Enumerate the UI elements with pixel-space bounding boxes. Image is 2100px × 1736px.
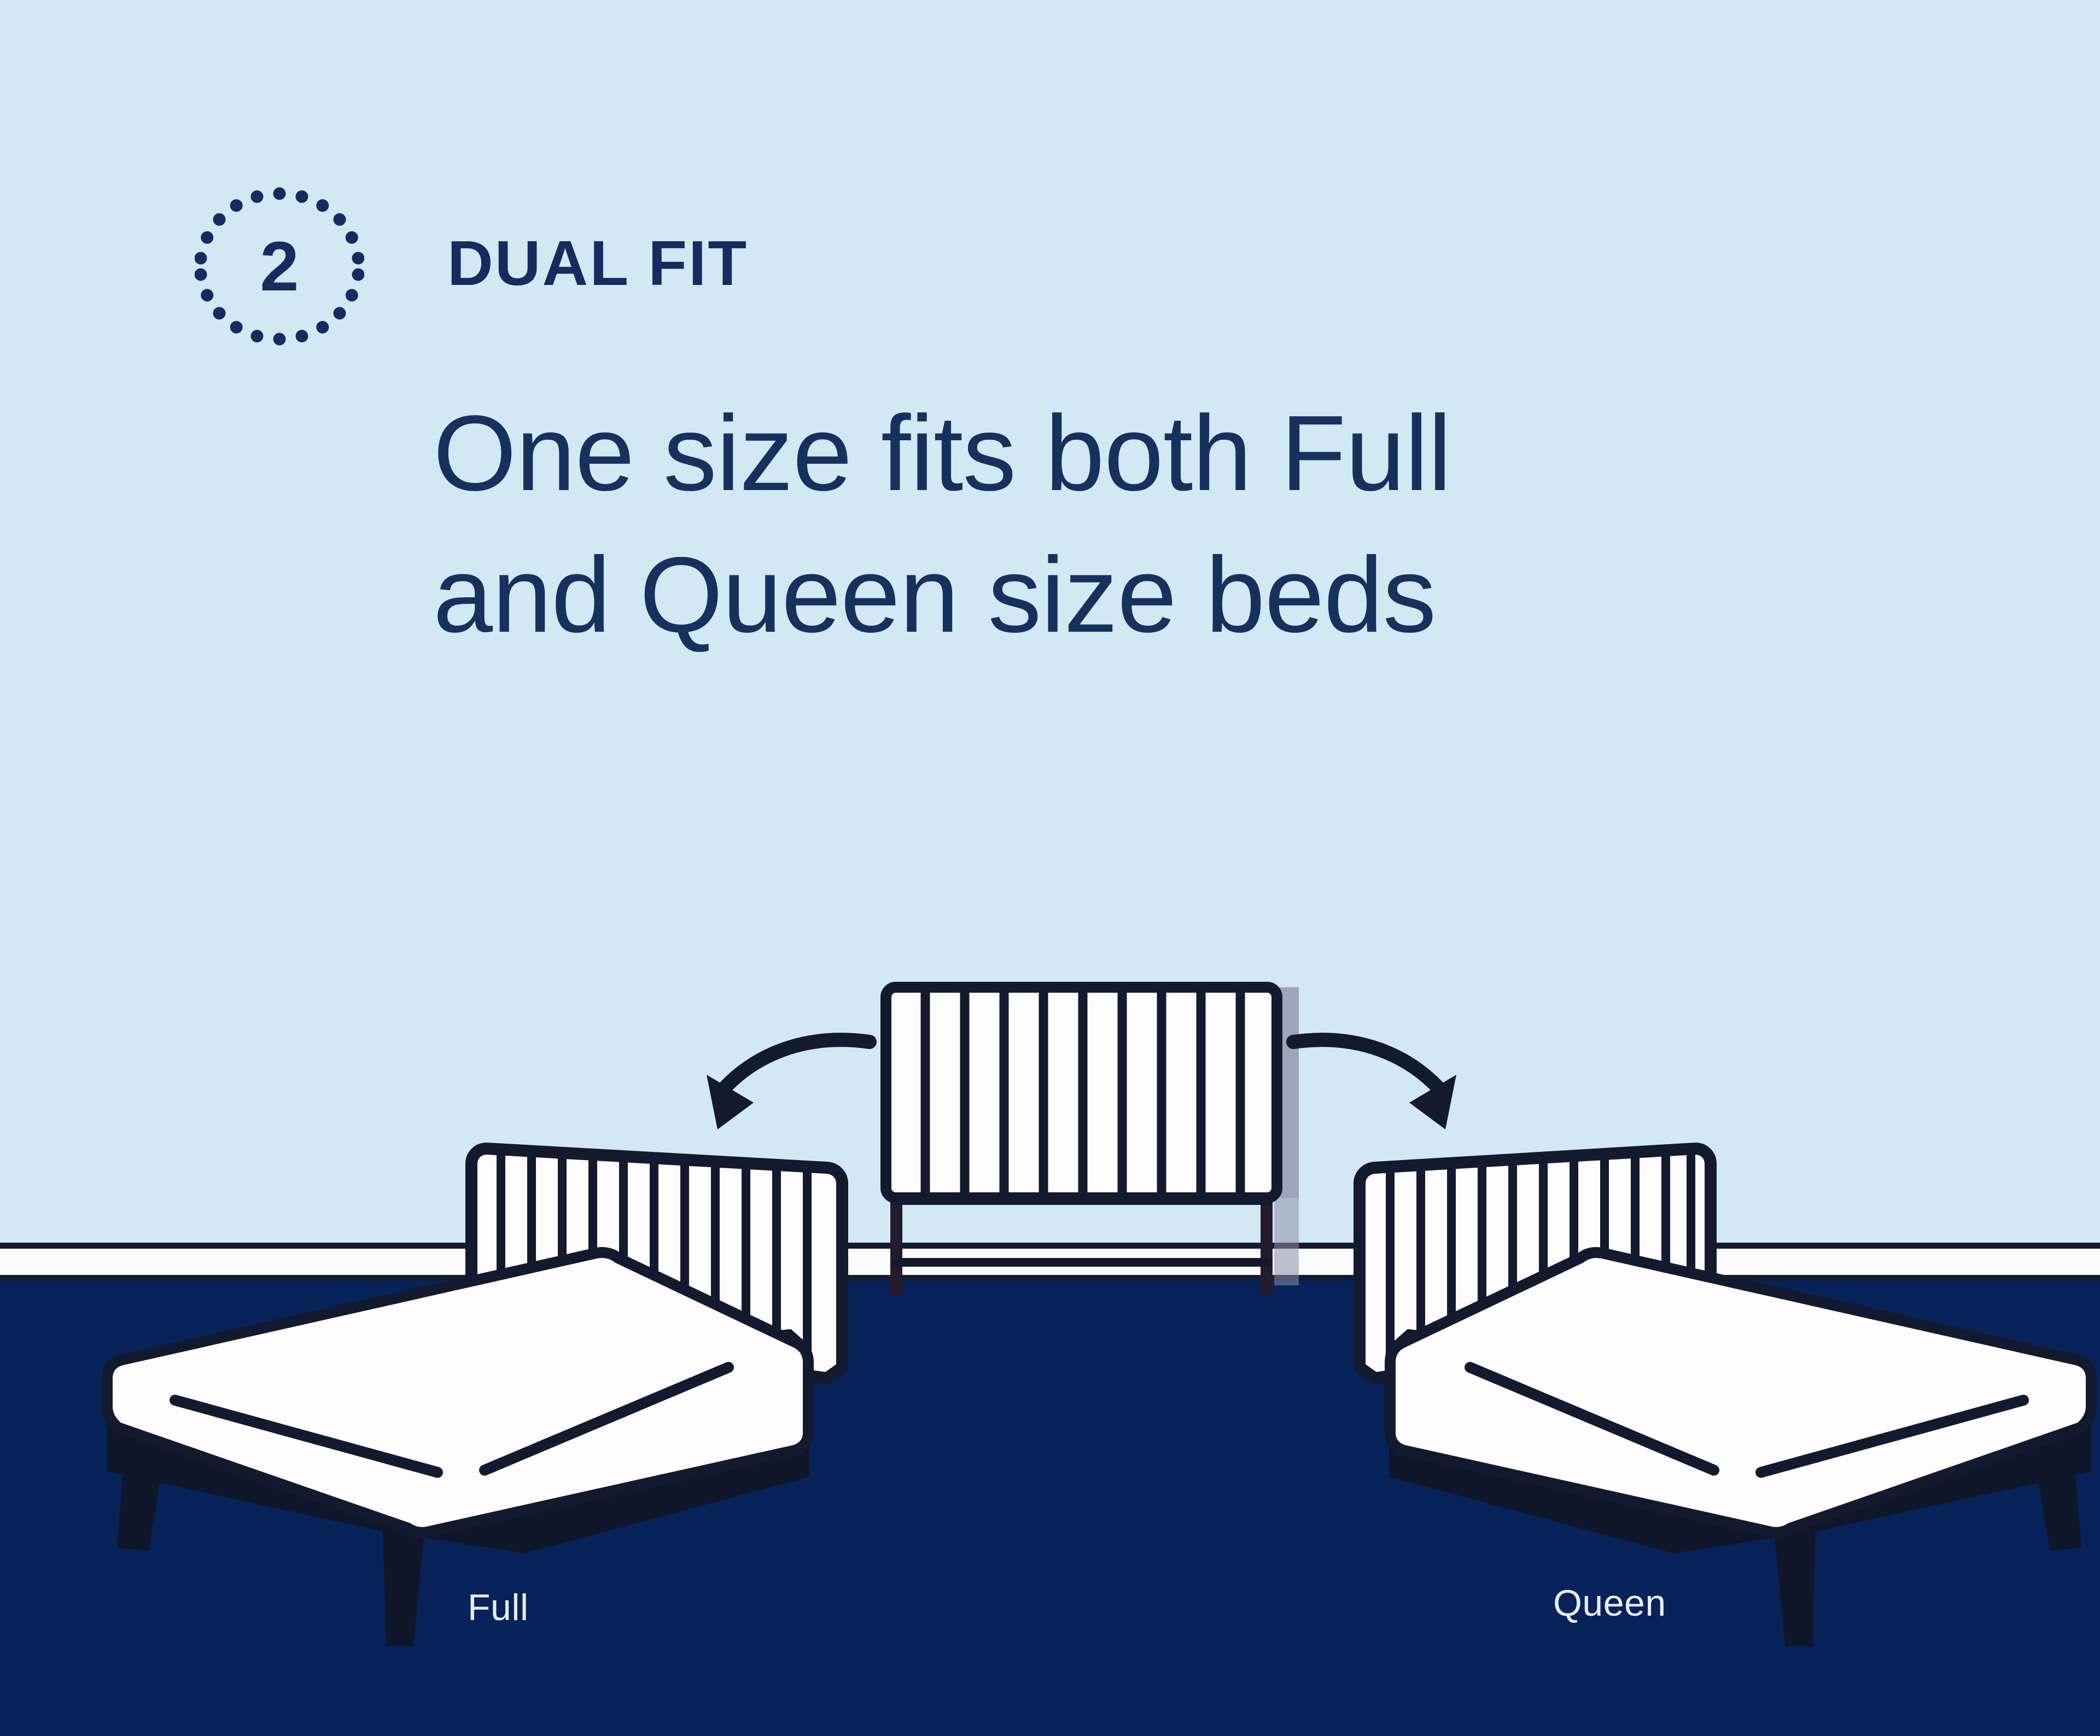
curved-arrow-right-icon: [1293, 1040, 1456, 1129]
queen-bed: [1360, 1149, 2091, 1646]
bedroom-illustration: [0, 0, 2100, 1736]
full-bed: [107, 1149, 842, 1646]
bed-label-queen: Queen: [1553, 1582, 1666, 1624]
center-headboard: [886, 987, 1277, 1296]
illustration-canvas: 2 DUAL FIT One size fits both Full and Q…: [0, 0, 2100, 1736]
curved-arrow-left-icon: [707, 1040, 870, 1129]
bed-label-full: Full: [468, 1586, 529, 1629]
